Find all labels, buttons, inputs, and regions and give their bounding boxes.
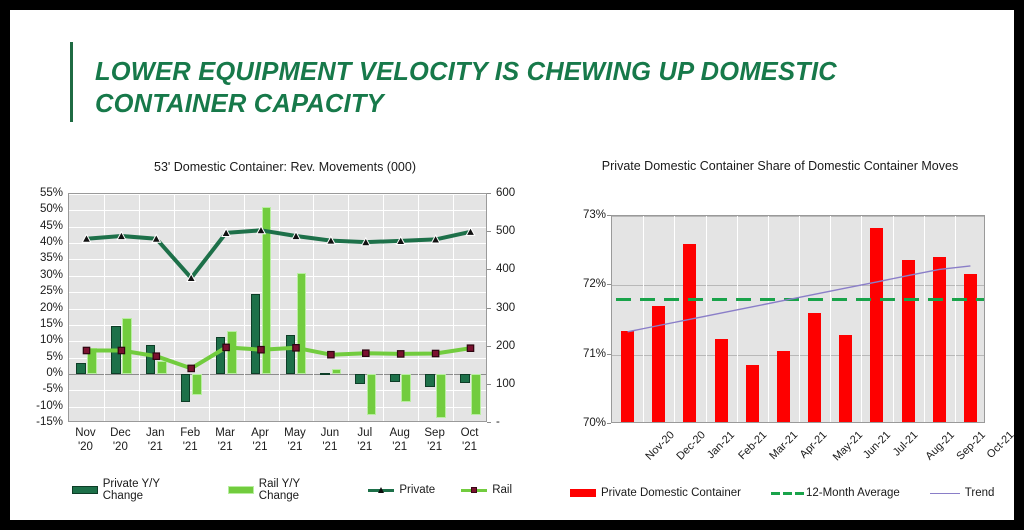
legend-label: Private Y/Y Change [103,478,202,502]
x-axis-tick-label: Jun-21 [861,429,893,461]
x-axis-tick-label: Jul-21 [891,429,921,459]
legend-item[interactable]: Trend [930,487,995,499]
left-line-series [69,194,487,422]
trend-line [612,216,985,423]
tick-mark [607,215,611,216]
legend-item[interactable]: Rail Y/Y Change [228,478,342,502]
tick-mark [487,422,491,423]
page-title: LOWER EQUIPMENT VELOCITY IS CHEWING UP D… [95,42,930,122]
left-chart-legend: Private Y/Y ChangeRail Y/Y ChangePrivate… [72,478,512,502]
legend-item[interactable]: Rail [461,484,512,496]
y-axis-tick-label: 50% [30,203,63,215]
legend-label: Trend [965,487,995,499]
secondary-y-axis-tick-label: 200 [496,340,515,352]
y-axis-tick-label: -15% [30,416,63,428]
y-axis-tick-label: 45% [30,220,63,232]
right-plot-area [611,215,985,423]
left-plot-area [68,193,487,422]
legend-label: Rail Y/Y Change [259,478,343,502]
legend-bar-swatch-icon [228,486,254,494]
legend-bar-swatch-icon [72,486,98,494]
legend-item[interactable]: Private Y/Y Change [72,478,202,502]
legend-bar-swatch-icon [570,489,596,497]
tick-mark [487,193,491,194]
y-axis-tick-label: 0% [30,367,63,379]
y-axis-tick-label: 30% [30,269,63,281]
x-axis-tick-label: Oct-21 [985,429,1017,461]
left-chart: 53' Domestic Container: Rev. Movements (… [30,160,540,515]
y-axis-tick-label: 72% [564,278,606,290]
secondary-y-axis-tick-label: 300 [496,302,515,314]
y-axis-tick-label: -5% [30,383,63,395]
x-axis-tick-label: Mar-21 [767,429,800,462]
x-axis-tick-label: Sep-21 [955,429,989,463]
legend-label: Private [399,484,435,496]
left-chart-title: 53' Domestic Container: Rev. Movements (… [60,160,510,175]
legend-label: Private Domestic Container [601,487,741,499]
x-axis-tick-label: Oct '21 [448,427,491,454]
tick-mark [607,284,611,285]
title-accent-rule [70,42,73,122]
x-axis-tick-label: May-21 [830,429,864,463]
secondary-y-axis-tick-label: 500 [496,225,515,237]
y-axis-tick-label: 73% [564,209,606,221]
y-axis-tick-label: 15% [30,318,63,330]
secondary-y-axis-tick-label: 400 [496,263,515,275]
tick-mark [607,423,611,424]
secondary-y-axis-tick-label: 600 [496,187,515,199]
y-axis-tick-label: 70% [564,417,606,429]
legend-item[interactable]: 12-Month Average [771,487,900,499]
x-axis-tick-label: Apr-21 [798,429,830,461]
legend-line-icon [930,488,960,499]
y-axis-tick-label: -10% [30,400,63,412]
secondary-y-axis-tick-label: 100 [496,378,515,390]
y-axis-tick-label: 71% [564,348,606,360]
tick-mark [487,346,491,347]
x-axis-tick-label: Feb-21 [736,429,769,462]
tick-mark [487,269,491,270]
legend-triangle-marker-icon [368,485,394,496]
legend-dashed-line-icon [771,488,801,499]
legend-square-marker-icon [461,485,487,496]
tick-mark [487,384,491,385]
y-axis-tick-label: 25% [30,285,63,297]
legend-item[interactable]: Private [368,484,435,496]
y-axis-tick-label: 40% [30,236,63,248]
right-chart-title: Private Domestic Container Share of Dome… [580,159,980,174]
secondary-y-axis-tick-label: - [496,416,500,428]
y-axis-tick-label: 35% [30,252,63,264]
tick-mark [607,354,611,355]
legend-label: 12-Month Average [806,487,900,499]
y-axis-tick-label: 10% [30,334,63,346]
tick-mark [487,308,491,309]
right-chart: Private Domestic Container Share of Dome… [550,155,1010,515]
x-axis-tick-label: Aug-21 [923,429,957,463]
tick-mark [487,231,491,232]
x-axis-tick-label: Dec-20 [674,429,708,463]
right-chart-legend: Private Domestic Container12-Month Avera… [570,487,1010,499]
slide-title-block: LOWER EQUIPMENT VELOCITY IS CHEWING UP D… [70,42,930,122]
slide-canvas: LOWER EQUIPMENT VELOCITY IS CHEWING UP D… [10,10,1014,520]
x-axis-tick-label: Jan-21 [705,429,737,461]
legend-item[interactable]: Private Domestic Container [570,487,741,499]
y-axis-tick-label: 55% [30,187,63,199]
y-axis-tick-label: 5% [30,351,63,363]
x-axis-tick-label: Nov-20 [643,429,677,463]
y-axis-tick-label: 20% [30,302,63,314]
legend-label: Rail [492,484,512,496]
